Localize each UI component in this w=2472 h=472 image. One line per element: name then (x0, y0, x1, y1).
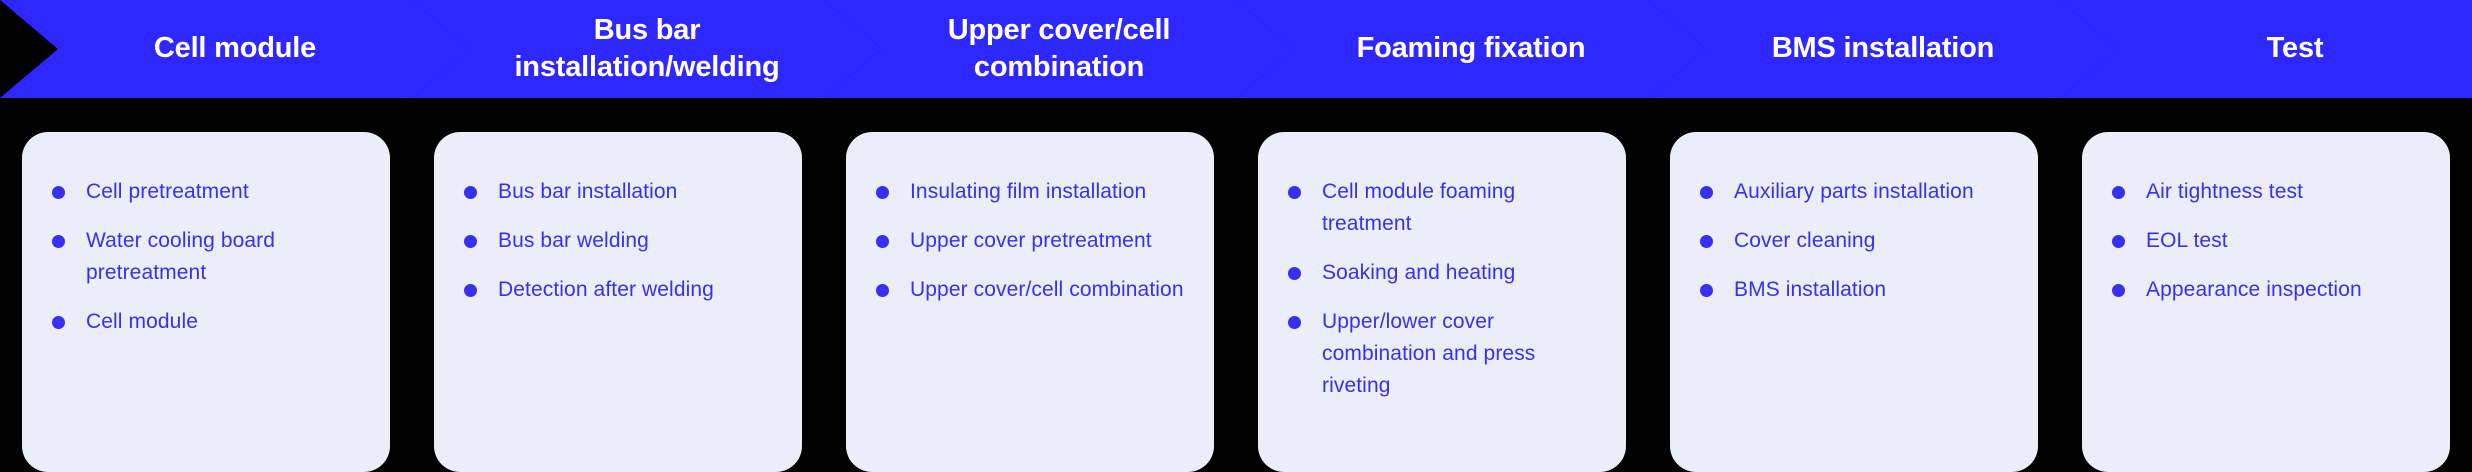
list-item: Cell module foaming treatment (1288, 176, 1596, 240)
list-item-label: Auxiliary parts installation (1734, 180, 1974, 203)
stage-chevron-header[interactable]: Bus bar installation/welding (412, 0, 882, 98)
list-item: Upper cover pretreatment (876, 225, 1184, 257)
list-item: Bus bar installation (464, 176, 772, 208)
process-stage: TestAir tightness testEOL testAppearance… (2060, 0, 2472, 456)
bullet-dot-icon (1700, 186, 1713, 199)
list-item: Bus bar welding (464, 225, 772, 257)
list-item: Upper/lower cover combination and press … (1288, 306, 1596, 402)
list-item: Cell pretreatment (52, 176, 360, 208)
list-item: Auxiliary parts installation (1700, 176, 2008, 208)
list-item-label: EOL test (2146, 229, 2228, 252)
list-item-label: Upper cover/cell combination (910, 278, 1184, 301)
list-item: Cell module (52, 306, 360, 338)
list-item: Cover cleaning (1700, 225, 2008, 257)
bullet-dot-icon (2112, 284, 2125, 297)
bullet-dot-icon (52, 316, 65, 329)
bullet-dot-icon (52, 235, 65, 248)
stage-detail-card: Cell pretreatmentWater cooling board pre… (22, 132, 390, 472)
stage-chevron-header[interactable]: Upper cover/cell combination (824, 0, 1294, 98)
bullet-dot-icon (876, 186, 889, 199)
stage-task-list: Auxiliary parts installationCover cleani… (1700, 176, 2008, 306)
list-item-label: Detection after welding (498, 278, 714, 301)
process-stage: Cell moduleCell pretreatmentWater coolin… (0, 0, 412, 456)
list-item-label: Upper/lower cover combination and press … (1322, 310, 1535, 397)
list-item-label: Insulating film installation (910, 180, 1146, 203)
list-item-label: Cell pretreatment (86, 180, 249, 203)
stage-chevron-header[interactable]: BMS installation (1648, 0, 2118, 98)
stage-chevron-header[interactable]: Cell module (0, 0, 470, 98)
process-stage: BMS installationAuxiliary parts installa… (1648, 0, 2060, 456)
bullet-dot-icon (1700, 235, 1713, 248)
stage-detail-card: Cell module foaming treatmentSoaking and… (1258, 132, 1626, 472)
process-stage: Bus bar installation/weldingBus bar inst… (412, 0, 824, 456)
bullet-dot-icon (876, 235, 889, 248)
list-item: EOL test (2112, 225, 2420, 257)
list-item: BMS installation (1700, 274, 2008, 306)
stage-title: Test (2130, 30, 2460, 67)
stage-task-list: Cell pretreatmentWater cooling board pre… (52, 176, 360, 338)
process-stage: Foaming fixationCell module foaming trea… (1236, 0, 1648, 456)
stage-chevron-header[interactable]: Foaming fixation (1236, 0, 1706, 98)
list-item-label: BMS installation (1734, 278, 1886, 301)
bullet-dot-icon (52, 186, 65, 199)
stage-title: Foaming fixation (1306, 30, 1636, 67)
bullet-dot-icon (1288, 186, 1301, 199)
process-stage: Upper cover/cell combinationInsulating f… (824, 0, 1236, 456)
list-item-label: Air tightness test (2146, 180, 2303, 203)
list-item: Soaking and heating (1288, 257, 1596, 289)
bullet-dot-icon (464, 235, 477, 248)
bullet-dot-icon (1700, 284, 1713, 297)
list-item-label: Bus bar welding (498, 229, 649, 252)
bullet-dot-icon (464, 186, 477, 199)
stage-task-list: Cell module foaming treatmentSoaking and… (1288, 176, 1596, 401)
list-item-label: Water cooling board pretreatment (86, 229, 275, 284)
list-item-label: Upper cover pretreatment (910, 229, 1152, 252)
stage-title: BMS installation (1718, 30, 2048, 67)
list-item: Upper cover/cell combination (876, 274, 1184, 306)
list-item-label: Appearance inspection (2146, 278, 2362, 301)
stage-task-list: Insulating film installationUpper cover … (876, 176, 1184, 306)
stage-title: Cell module (70, 30, 400, 67)
stage-task-list: Bus bar installationBus bar weldingDetec… (464, 176, 772, 306)
list-item-label: Cell module foaming treatment (1322, 180, 1515, 235)
list-item: Insulating film installation (876, 176, 1184, 208)
stage-title: Upper cover/cell combination (894, 12, 1224, 86)
list-item: Appearance inspection (2112, 274, 2420, 306)
bullet-dot-icon (1288, 316, 1301, 329)
bullet-dot-icon (2112, 186, 2125, 199)
list-item: Air tightness test (2112, 176, 2420, 208)
list-item-label: Bus bar installation (498, 180, 677, 203)
bullet-dot-icon (1288, 267, 1301, 280)
stage-detail-card: Auxiliary parts installationCover cleani… (1670, 132, 2038, 472)
bullet-dot-icon (464, 284, 477, 297)
stage-detail-card: Insulating film installationUpper cover … (846, 132, 1214, 472)
list-item-label: Soaking and heating (1322, 261, 1515, 284)
list-item: Detection after welding (464, 274, 772, 306)
stage-chevron-header[interactable]: Test (2060, 0, 2472, 98)
stage-title: Bus bar installation/welding (482, 12, 812, 86)
list-item: Water cooling board pretreatment (52, 225, 360, 289)
stage-detail-card: Bus bar installationBus bar weldingDetec… (434, 132, 802, 472)
list-item-label: Cell module (86, 310, 198, 333)
bullet-dot-icon (876, 284, 889, 297)
process-flow-diagram: Cell moduleCell pretreatmentWater coolin… (0, 0, 2472, 456)
bullet-dot-icon (2112, 235, 2125, 248)
stage-detail-card: Air tightness testEOL testAppearance ins… (2082, 132, 2450, 472)
list-item-label: Cover cleaning (1734, 229, 1875, 252)
stage-task-list: Air tightness testEOL testAppearance ins… (2112, 176, 2420, 306)
